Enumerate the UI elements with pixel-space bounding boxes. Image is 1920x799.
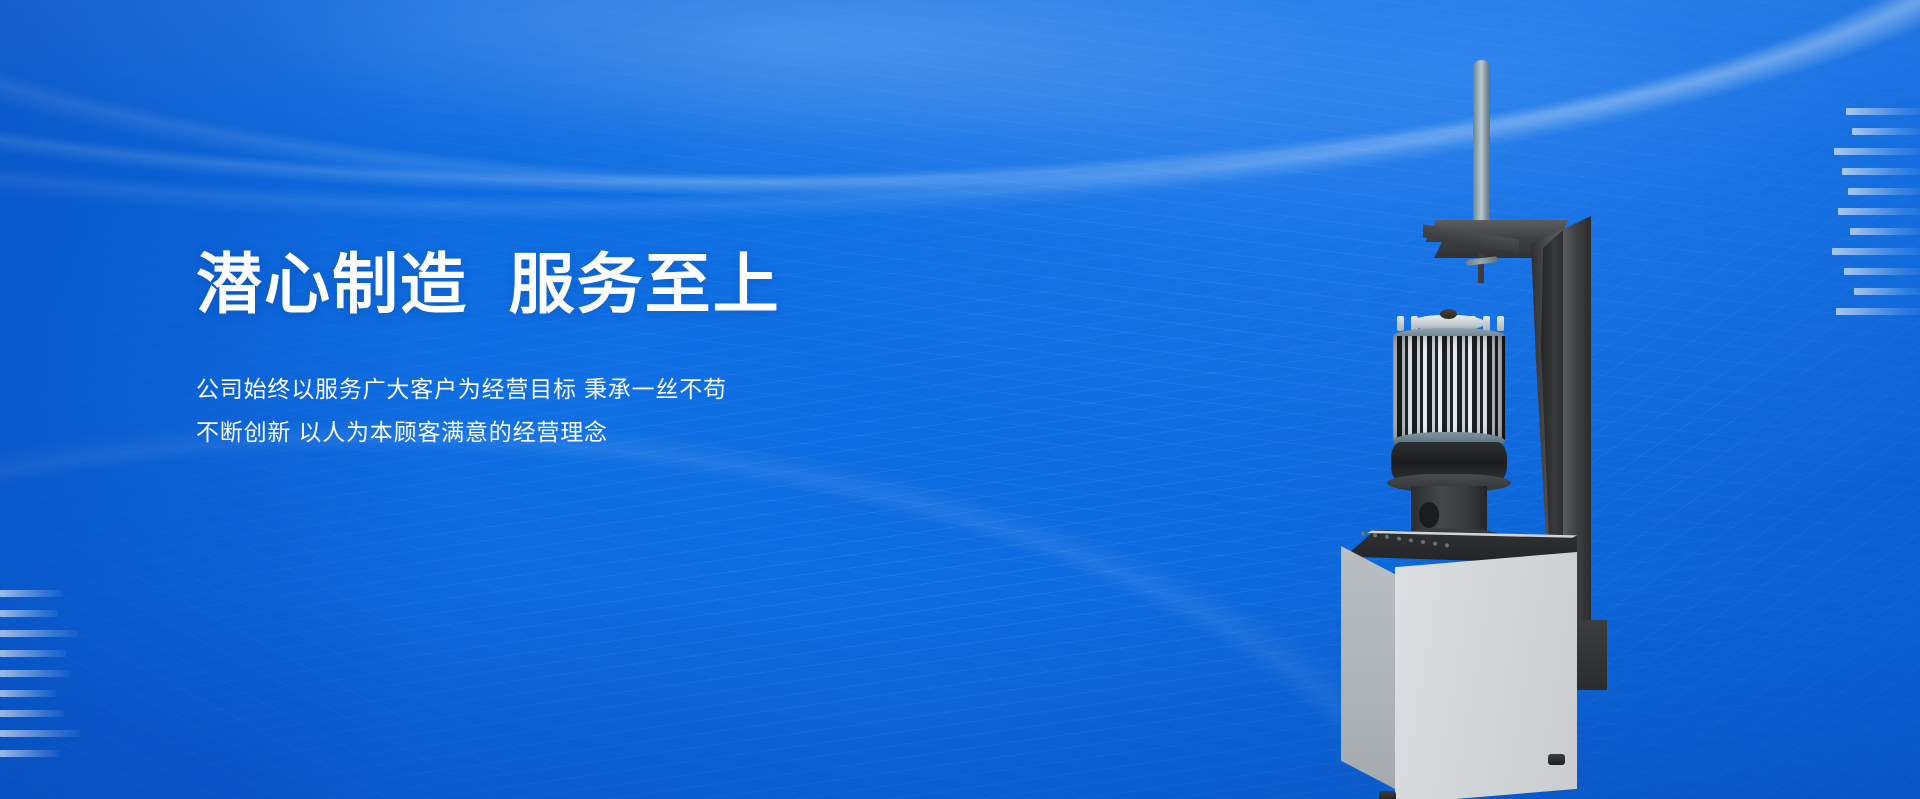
- decorative-tick: [0, 630, 78, 637]
- decorative-tick: [1834, 148, 1920, 155]
- finned-rotor-cylinder: [1393, 336, 1505, 440]
- decorative-tick: [1838, 208, 1920, 215]
- decorative-tick: [0, 710, 64, 717]
- plate-hole: [1421, 540, 1425, 545]
- plate-hole: [1433, 541, 1437, 546]
- decorative-tick: [1832, 248, 1920, 255]
- decorative-tick: [1848, 188, 1920, 195]
- leveling-foot-right: [1548, 754, 1565, 765]
- rotor-bolt: [1497, 316, 1504, 331]
- machine-illustration: [1335, 60, 1655, 799]
- plate-hole: [1397, 536, 1401, 541]
- hero-copy-block: 潜心制造 服务至上 公司始终以服务广大客户为经营目标 秉承一丝不苟 不断创新 以…: [196, 246, 1016, 454]
- decorative-tick: [1844, 268, 1920, 275]
- leveling-foot-left: [1379, 791, 1396, 799]
- decorative-tick: [0, 590, 62, 597]
- decorative-ticks-right: [1832, 108, 1920, 315]
- plate-hole: [1445, 543, 1449, 548]
- hero-subtitle-group: 公司始终以服务广大客户为经营目标 秉承一丝不苟 不断创新 以人为本顾客满意的经营…: [196, 368, 1016, 454]
- decorative-tick: [0, 650, 66, 657]
- decorative-tick: [0, 690, 56, 697]
- plate-hole: [1385, 535, 1389, 540]
- plate-hole: [1373, 533, 1377, 538]
- hero-subtitle-line-2: 不断创新 以人为本顾客满意的经营理念: [196, 411, 1016, 454]
- rotor-bolt: [1397, 316, 1404, 331]
- plate-hole: [1361, 531, 1365, 536]
- decorative-tick: [1836, 308, 1920, 315]
- decorative-tick: [0, 750, 60, 757]
- decorative-tick: [0, 610, 58, 617]
- decorative-tick: [1854, 288, 1920, 295]
- pedestal-neck-port: [1419, 502, 1439, 528]
- plate-hole: [1409, 538, 1413, 543]
- decorative-tick: [1846, 108, 1920, 115]
- hero-headline: 潜心制造 服务至上: [196, 246, 1016, 324]
- hero-banner: 潜心制造 服务至上 公司始终以服务广大客户为经营目标 秉承一丝不苟 不断创新 以…: [0, 0, 1920, 799]
- rotor-center-knob: [1440, 309, 1457, 319]
- decorative-tick: [1852, 128, 1920, 135]
- decorative-tick: [1842, 168, 1920, 175]
- decorative-tick: [0, 670, 70, 677]
- guide-rod: [1473, 60, 1490, 228]
- decorative-ticks-left: [0, 590, 80, 757]
- decorative-tick: [0, 730, 80, 737]
- decorative-tick: [1850, 228, 1920, 235]
- hero-subtitle-line-1: 公司始终以服务广大客户为经营目标 秉承一丝不苟: [196, 368, 1016, 411]
- cabinet-side-panel: [1341, 546, 1397, 790]
